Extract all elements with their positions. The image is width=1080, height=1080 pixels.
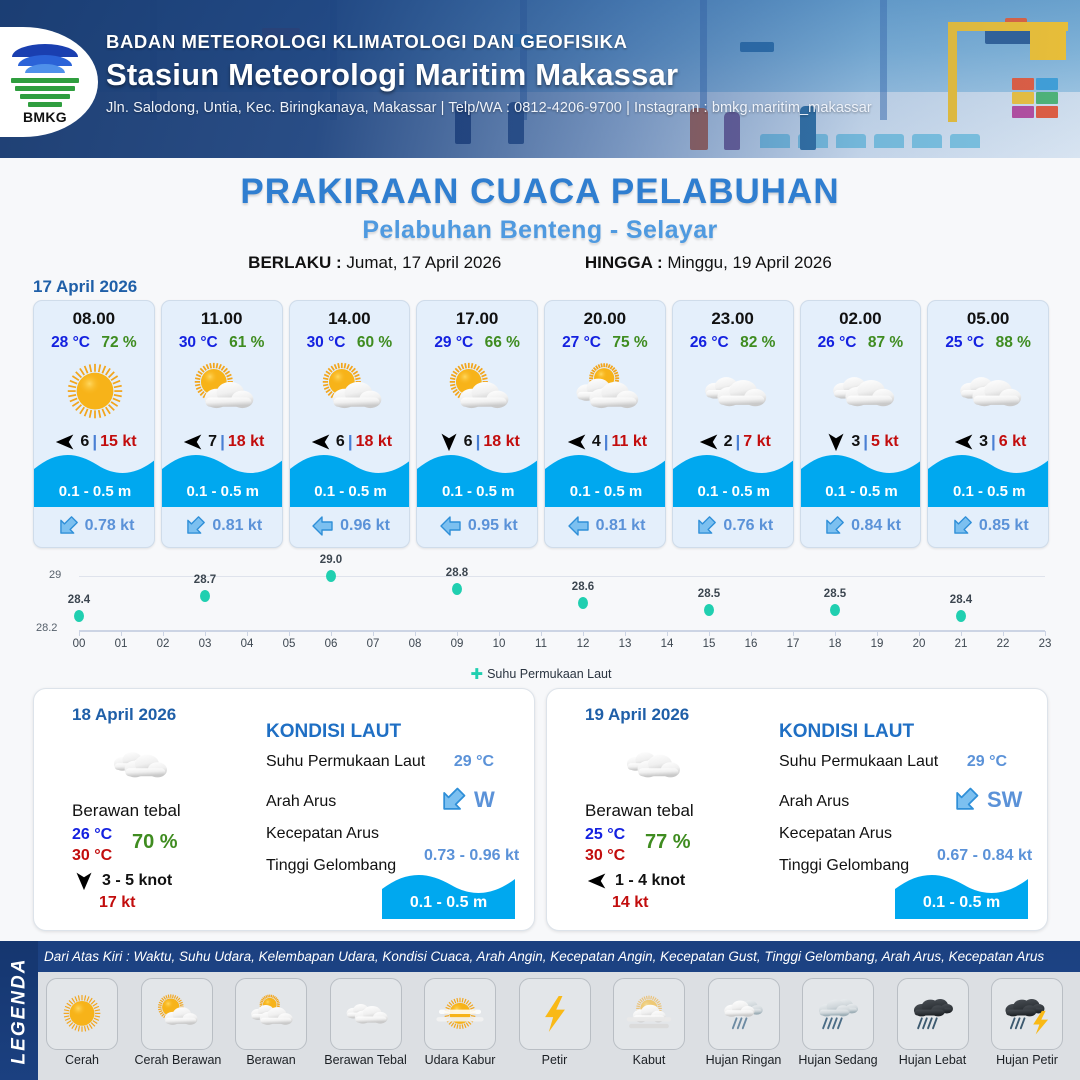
current-speed: 0.76 kt <box>723 517 773 535</box>
legend-item-label: Hujan Sedang <box>796 1053 880 1067</box>
day-gust: 17 kt <box>99 894 135 912</box>
chart-legend: ✚Suhu Permukaan Laut <box>33 664 1049 682</box>
card-current: 0.76 kt <box>673 510 794 542</box>
chart-x-label: 04 <box>241 638 254 650</box>
wave-height: 0.1 - 0.5 m <box>928 483 1049 500</box>
validity-row: BERLAKU : Jumat, 17 April 2026 HINGGA : … <box>0 253 1080 273</box>
day1-date: 17 April 2026 <box>33 277 137 297</box>
chart-x-tick <box>667 631 668 636</box>
chart-x-tick <box>289 631 290 636</box>
card-time: 14.00 <box>290 309 410 329</box>
weather-petir-icon <box>519 978 591 1050</box>
chart-x-label: 20 <box>913 638 926 650</box>
hourly-forecast-row: 08.00 28 °C 72 % 6 | 15 kt 0.1 - 0. <box>33 300 1049 548</box>
forecast-card: 14.00 30 °C 60 % 6 | 18 kt <box>289 300 411 548</box>
page-subtitle: Pelabuhan Benteng - Selayar <box>0 216 1080 245</box>
day-date: 18 April 2026 <box>72 705 176 725</box>
current-speed: 0.78 kt <box>85 517 135 535</box>
chart-x-tick <box>625 631 626 636</box>
wave-height-value: 0.1 - 0.5 m <box>382 894 515 912</box>
wave-height: 0.1 - 0.5 m <box>673 483 794 500</box>
wave-height-label: Tinggi Gelombang <box>266 857 396 875</box>
chart-x-label: 21 <box>955 638 968 650</box>
current-direction-W-icon <box>567 514 591 538</box>
current-direction-undefined-icon <box>951 785 981 815</box>
berlaku-label: BERLAKU : <box>248 253 342 272</box>
current-direction-W-icon <box>439 514 463 538</box>
legend-tab-label: LEGENDA <box>8 957 30 1064</box>
chart-x-label: 09 <box>451 638 464 650</box>
day-humidity: 77 % <box>645 831 691 854</box>
chart-x-label: 00 <box>73 638 86 650</box>
chart-x-axis <box>79 630 1045 632</box>
forecast-card: 11.00 30 °C 61 % 7 | 18 kt <box>161 300 283 548</box>
legend-item-label: Hujan Petir <box>985 1053 1069 1067</box>
card-humidity: 66 % <box>485 334 520 351</box>
weather-berawan-tebal-icon <box>96 737 182 793</box>
card-time: 05.00 <box>928 309 1048 329</box>
chart-x-tick <box>541 631 542 636</box>
day-humidity: 70 % <box>132 831 178 854</box>
card-humidity: 87 % <box>868 334 903 351</box>
card-humidity: 82 % <box>740 334 775 351</box>
chart-point-label: 28.6 <box>572 581 594 593</box>
day-condition: Berawan tebal <box>72 801 287 821</box>
chart-x-tick <box>835 631 836 636</box>
current-direction-SW-icon <box>950 514 974 538</box>
wave-height: 0.1 - 0.5 m <box>801 483 922 500</box>
chart-x-tick <box>331 631 332 636</box>
legend-item: Kabut <box>607 978 691 1067</box>
chart-x-label: 05 <box>283 638 296 650</box>
chart-point-label: 29.0 <box>320 554 342 566</box>
card-wave: 0.1 - 0.5 m <box>34 447 155 507</box>
chart-x-tick <box>877 631 878 636</box>
hingga-label: HINGGA : <box>585 253 663 272</box>
card-wave: 0.1 - 0.5 m <box>801 447 922 507</box>
weather-berawan-tebal-icon <box>330 978 402 1050</box>
chart-x-tick <box>793 631 794 636</box>
legend-item-label: Udara Kabur <box>418 1053 502 1067</box>
legend-item: Hujan Petir <box>985 978 1069 1067</box>
legend-item-label: Hujan Lebat <box>891 1053 975 1067</box>
card-wave: 0.1 - 0.5 m <box>673 447 794 507</box>
sst-value: 29 °C <box>454 753 494 771</box>
chart-point-label: 28.7 <box>194 574 216 586</box>
current-speed: 0.85 kt <box>979 517 1029 535</box>
legend-item-label: Cerah Berawan <box>135 1053 219 1067</box>
legend-item: Cerah <box>40 978 124 1067</box>
chart-x-tick <box>163 631 164 636</box>
day-wind: 3 - 5 knot <box>72 871 172 891</box>
chart-x-label: 14 <box>661 638 674 650</box>
chart-point-label: 28.5 <box>698 588 720 600</box>
card-temp-humidity: 29 °C 66 % <box>417 334 537 352</box>
forecast-card: 20.00 27 °C 75 % 4 | <box>544 300 666 548</box>
sst-label: Suhu Permukaan Laut <box>266 753 425 771</box>
current-speed-label: Kecepatan Arus <box>779 825 892 843</box>
bmkg-logo-mark: BMKG <box>8 40 82 124</box>
chart-x-tick <box>1003 631 1004 636</box>
chart-x-tick <box>121 631 122 636</box>
card-temperature: 25 °C <box>945 334 984 351</box>
chart-x-label: 22 <box>997 638 1010 650</box>
legend-note: Dari Atas Kiri : Waktu, Suhu Udara, Kele… <box>44 949 1074 964</box>
chart-x-label: 08 <box>409 638 422 650</box>
weather-cerah-berawan-icon <box>141 978 213 1050</box>
chart-x-label: 10 <box>493 638 506 650</box>
chart-x-label: 06 <box>325 638 338 650</box>
chart-point-label: 28.8 <box>446 567 468 579</box>
chart-x-tick <box>751 631 752 636</box>
legend-tab: LEGENDA <box>0 941 38 1080</box>
weather-cerah-berawan-icon <box>417 357 538 427</box>
card-current: 0.95 kt <box>417 510 538 542</box>
chart-x-label: 11 <box>535 638 547 650</box>
card-temperature: 30 °C <box>307 334 346 351</box>
chart-gridline <box>79 576 1045 577</box>
chart-x-tick <box>499 631 500 636</box>
card-time: 08.00 <box>34 309 154 329</box>
weather-hujan-lebat-icon <box>897 978 969 1050</box>
bmkg-logo-text: BMKG <box>8 109 82 125</box>
legend-item-label: Hujan Ringan <box>702 1053 786 1067</box>
day-condition: Berawan tebal <box>585 801 800 821</box>
weather-berawan-icon <box>545 357 666 427</box>
chart-point-label: 28.4 <box>950 594 972 606</box>
weather-berawan-tebal-icon <box>673 357 794 427</box>
weather-hujan-sedang-icon <box>802 978 874 1050</box>
chart-legend-marker: ✚ <box>471 665 484 683</box>
current-direction-value: W <box>474 787 495 813</box>
card-temperature: 29 °C <box>434 334 473 351</box>
weather-udara-kabur-icon <box>424 978 496 1050</box>
chart-x-label: 02 <box>157 638 170 650</box>
forecast-card: 17.00 29 °C 66 % 6 | 18 kt <box>416 300 538 548</box>
chart-x-label: 03 <box>199 638 212 650</box>
day-panel-19: 19 April 2026 Berawan tebal 25 °C 30 °C … <box>546 688 1048 931</box>
forecast-card: 23.00 26 °C 82 % 2 | <box>672 300 794 548</box>
legend-item: Hujan Lebat <box>891 978 975 1067</box>
card-temp-humidity: 27 °C 75 % <box>545 334 665 352</box>
day-temp-max: 30 °C <box>585 847 625 865</box>
weather-cerah-icon <box>46 978 118 1050</box>
legend-item: Petir <box>513 978 597 1067</box>
sst-value: 29 °C <box>967 753 1007 771</box>
weather-hujan-ringan-icon <box>708 978 780 1050</box>
card-time: 11.00 <box>162 309 282 329</box>
card-temperature: 30 °C <box>179 334 218 351</box>
sea-conditions-title: KONDISI LAUT <box>779 721 914 743</box>
chart-data-point <box>830 604 840 616</box>
current-speed: 0.96 kt <box>340 517 390 535</box>
chart-point-label: 28.4 <box>68 594 90 606</box>
current-direction-label: Arah Arus <box>266 793 336 811</box>
card-wave: 0.1 - 0.5 m <box>928 447 1049 507</box>
card-temperature: 26 °C <box>690 334 729 351</box>
weather-cerah-berawan-icon <box>162 357 283 427</box>
day-date: 19 April 2026 <box>585 705 689 725</box>
card-temperature: 27 °C <box>562 334 601 351</box>
chart-x-label: 23 <box>1039 638 1052 650</box>
card-temp-humidity: 26 °C 87 % <box>801 334 921 352</box>
chart-data-point <box>578 597 588 609</box>
weather-hujan-petir-icon <box>991 978 1063 1050</box>
current-direction-SW-icon <box>56 514 80 538</box>
forecast-card: 02.00 26 °C 87 % 3 | <box>800 300 922 548</box>
legend-item-label: Cerah <box>40 1053 124 1067</box>
agency-name: BADAN METEOROLOGI KLIMATOLOGI DAN GEOFIS… <box>106 31 1066 53</box>
hingga-value: Minggu, 19 April 2026 <box>667 253 831 272</box>
chart-data-point <box>326 570 336 582</box>
chart-legend-label: Suhu Permukaan Laut <box>487 667 611 681</box>
sst-chart: 2928.20001020304050607080910111213141516… <box>33 556 1049 684</box>
chart-x-tick <box>205 631 206 636</box>
day-wave-graphic: 0.1 - 0.5 m <box>382 867 515 919</box>
card-temp-humidity: 26 °C 82 % <box>673 334 793 352</box>
chart-x-tick <box>415 631 416 636</box>
card-temperature: 28 °C <box>51 334 90 351</box>
chart-x-label: 12 <box>577 638 590 650</box>
chart-x-tick <box>583 631 584 636</box>
wave-height: 0.1 - 0.5 m <box>162 483 283 500</box>
legend-item: Cerah Berawan <box>135 978 219 1067</box>
y-tick-top: 29 <box>49 569 61 581</box>
card-wave: 0.1 - 0.5 m <box>417 447 538 507</box>
current-direction-SW-icon <box>822 514 846 538</box>
card-humidity: 88 % <box>996 334 1031 351</box>
chart-data-point <box>74 610 84 622</box>
weather-cerah-icon <box>34 357 155 427</box>
chart-x-label: 07 <box>367 638 380 650</box>
current-direction-value-group: SW <box>951 785 1022 815</box>
card-wave: 0.1 - 0.5 m <box>162 447 283 507</box>
card-current: 0.81 kt <box>545 510 666 542</box>
wind-direction-W-icon <box>585 871 609 891</box>
chart-x-label: 16 <box>745 638 758 650</box>
berlaku-value: Jumat, 17 April 2026 <box>346 253 501 272</box>
day-panel-18: 18 April 2026 Berawan tebal 26 °C 30 °C … <box>33 688 535 931</box>
page-title: PRAKIRAAN CUACA PELABUHAN <box>0 172 1080 212</box>
current-speed-value: 0.73 - 0.96 kt <box>424 847 519 865</box>
day-gust: 14 kt <box>612 894 648 912</box>
current-speed-label: Kecepatan Arus <box>266 825 379 843</box>
card-wave: 0.1 - 0.5 m <box>545 447 666 507</box>
card-humidity: 72 % <box>101 334 136 351</box>
card-temp-humidity: 30 °C 60 % <box>290 334 410 352</box>
weather-berawan-tebal-icon <box>928 357 1049 427</box>
legend-item-label: Berawan <box>229 1053 313 1067</box>
day-wave-graphic: 0.1 - 0.5 m <box>895 867 1028 919</box>
chart-data-point <box>956 610 966 622</box>
current-direction-undefined-icon <box>438 785 468 815</box>
legend-item: Hujan Sedang <box>796 978 880 1067</box>
day-wind: 1 - 4 knot <box>585 871 685 891</box>
chart-x-label: 13 <box>619 638 632 650</box>
forecast-card: 08.00 28 °C 72 % 6 | 15 kt 0.1 - 0. <box>33 300 155 548</box>
wave-height: 0.1 - 0.5 m <box>417 483 538 500</box>
legend-item: Berawan <box>229 978 313 1067</box>
chart-x-label: 17 <box>787 638 800 650</box>
station-name: Stasiun Meteorologi Maritim Makassar <box>106 57 1066 93</box>
day-temp-min: 26 °C <box>72 826 112 844</box>
current-speed-value: 0.67 - 0.84 kt <box>937 847 1032 865</box>
page-header: BMKG BADAN METEOROLOGI KLIMATOLOGI DAN G… <box>0 0 1080 158</box>
day-wind-range: 1 - 4 knot <box>615 872 685 890</box>
day-temp-min: 25 °C <box>585 826 625 844</box>
contact-line: Jln. Salodong, Untia, Kec. Biringkanaya,… <box>106 100 1066 116</box>
legend-item: Udara Kabur <box>418 978 502 1067</box>
card-current: 0.96 kt <box>290 510 411 542</box>
current-direction-SW-icon <box>694 514 718 538</box>
current-speed: 0.81 kt <box>212 517 262 535</box>
card-current: 0.81 kt <box>162 510 283 542</box>
chart-point-label: 28.5 <box>824 588 846 600</box>
sst-label: Suhu Permukaan Laut <box>779 753 938 771</box>
y-tick-bottom: 28.2 <box>36 622 57 634</box>
sea-conditions-title: KONDISI LAUT <box>266 721 401 743</box>
current-direction-value-group: W <box>438 785 495 815</box>
card-temp-humidity: 25 °C 88 % <box>928 334 1048 352</box>
wave-height-label: Tinggi Gelombang <box>779 857 909 875</box>
wave-height: 0.1 - 0.5 m <box>545 483 666 500</box>
card-temp-humidity: 28 °C 72 % <box>34 334 154 352</box>
weather-berawan-tebal-icon <box>801 357 922 427</box>
chart-x-tick <box>961 631 962 636</box>
weather-berawan-tebal-icon <box>609 737 695 793</box>
card-humidity: 75 % <box>612 334 647 351</box>
chart-x-tick <box>373 631 374 636</box>
wave-height: 0.1 - 0.5 m <box>34 483 155 500</box>
chart-x-tick <box>457 631 458 636</box>
card-temperature: 26 °C <box>818 334 857 351</box>
legend-items: Cerah Cerah Berawan <box>38 972 1080 1080</box>
forecast-card: 05.00 25 °C 88 % 3 | <box>927 300 1049 548</box>
day-temp-max: 30 °C <box>72 847 112 865</box>
wave-height-value: 0.1 - 0.5 m <box>895 894 1028 912</box>
chart-x-label: 01 <box>115 638 128 650</box>
current-direction-label: Arah Arus <box>779 793 849 811</box>
legend-section: LEGENDA Dari Atas Kiri : Waktu, Suhu Uda… <box>0 941 1080 1080</box>
legend-item-label: Petir <box>513 1053 597 1067</box>
chart-data-point <box>452 583 462 595</box>
card-current: 0.78 kt <box>34 510 155 542</box>
card-time: 17.00 <box>417 309 537 329</box>
legend-item: Berawan Tebal <box>324 978 408 1067</box>
current-speed: 0.84 kt <box>851 517 901 535</box>
weather-kabut-icon <box>613 978 685 1050</box>
weather-cerah-berawan-icon <box>290 357 411 427</box>
wind-direction-S-icon <box>72 871 96 891</box>
card-temp-humidity: 30 °C 61 % <box>162 334 282 352</box>
card-humidity: 60 % <box>357 334 392 351</box>
chart-x-label: 19 <box>871 638 884 650</box>
card-time: 02.00 <box>801 309 921 329</box>
chart-x-label: 18 <box>829 638 842 650</box>
header-text-block: BADAN METEOROLOGI KLIMATOLOGI DAN GEOFIS… <box>106 31 1066 116</box>
current-direction-W-icon <box>311 514 335 538</box>
legend-item-label: Kabut <box>607 1053 691 1067</box>
card-current: 0.85 kt <box>928 510 1049 542</box>
card-current: 0.84 kt <box>801 510 922 542</box>
wave-height: 0.1 - 0.5 m <box>290 483 411 500</box>
weather-berawan-icon <box>235 978 307 1050</box>
chart-x-tick <box>709 631 710 636</box>
current-speed: 0.81 kt <box>596 517 646 535</box>
chart-data-point <box>200 590 210 602</box>
chart-data-point <box>704 604 714 616</box>
card-time: 23.00 <box>673 309 793 329</box>
chart-x-tick <box>247 631 248 636</box>
card-time: 20.00 <box>545 309 665 329</box>
chart-x-tick <box>919 631 920 636</box>
day-wind-range: 3 - 5 knot <box>102 872 172 890</box>
legend-item-label: Berawan Tebal <box>324 1053 408 1067</box>
current-direction-SW-icon <box>183 514 207 538</box>
chart-x-label: 15 <box>703 638 716 650</box>
legend-item: Hujan Ringan <box>702 978 786 1067</box>
current-speed: 0.95 kt <box>468 517 518 535</box>
card-humidity: 61 % <box>229 334 264 351</box>
current-direction-value: SW <box>987 787 1022 813</box>
chart-x-tick <box>79 631 80 636</box>
chart-x-tick <box>1045 631 1046 636</box>
card-wave: 0.1 - 0.5 m <box>290 447 411 507</box>
